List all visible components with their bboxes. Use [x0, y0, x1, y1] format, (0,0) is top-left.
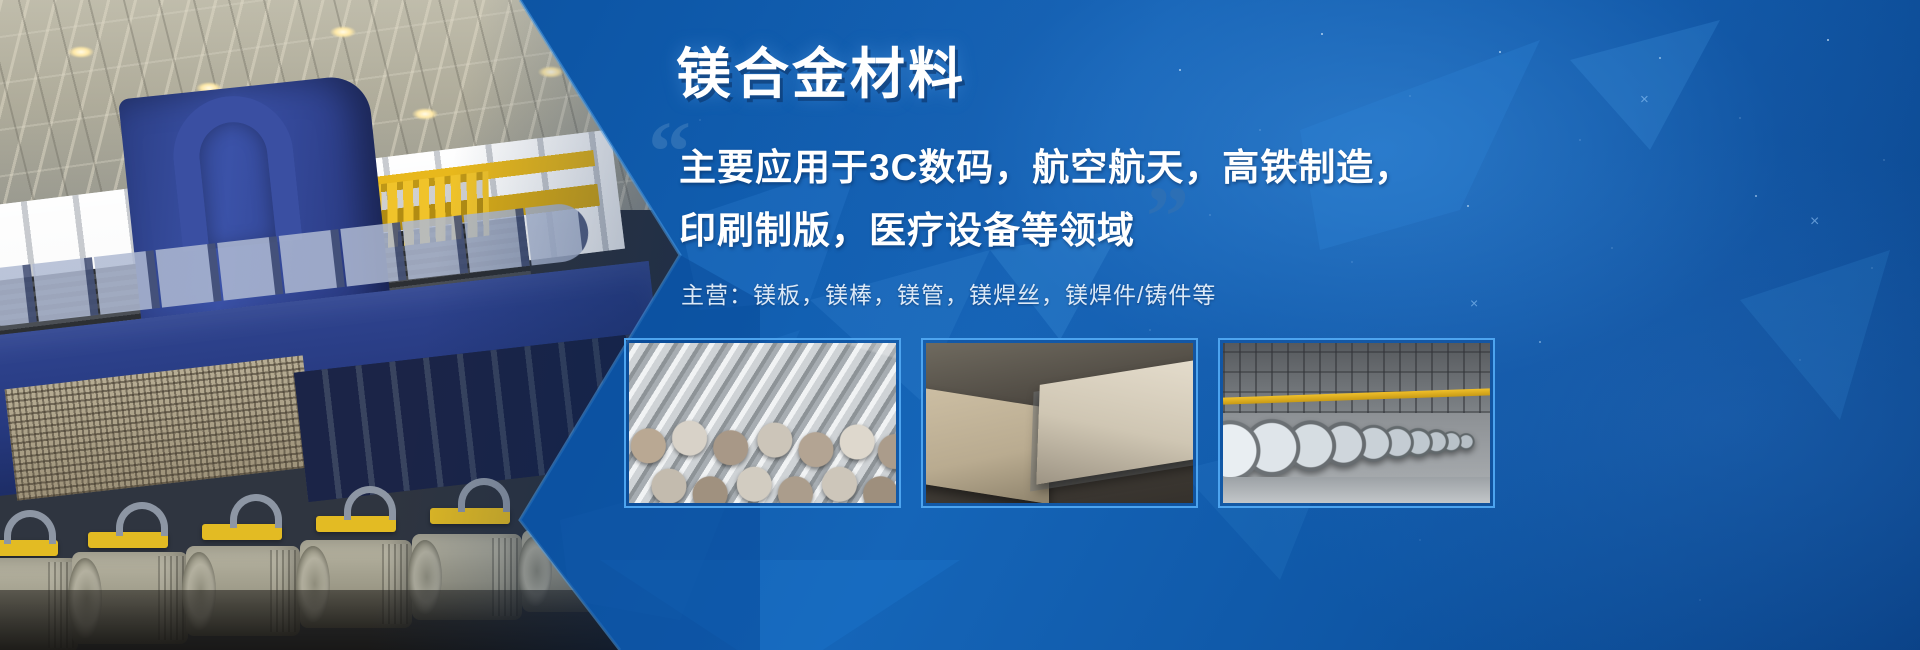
thumb-magnesium-plates-image — [926, 343, 1193, 503]
description-text: 主要应用于3C数码，航空航天，高铁制造， 印刷制版，医疗设备等领域 — [679, 136, 1439, 262]
thumb-magnesium-coils[interactable] — [1218, 338, 1495, 508]
thumb-magnesium-bars[interactable] — [624, 338, 901, 508]
coil-stack — [1223, 401, 1490, 484]
warehouse-floor — [1223, 477, 1490, 503]
product-banner: × × × × — [0, 0, 1920, 650]
description-line-1: 主要应用于3C数码，航空航天，高铁制造， — [679, 136, 1439, 199]
main-products-subtitle: 主营：镁板，镁棒，镁管，镁焊丝，镁焊件/铸件等 — [681, 276, 1216, 310]
thumb-magnesium-coils-image — [1223, 343, 1490, 503]
product-thumbnail-list — [624, 338, 1495, 508]
thumb-magnesium-bars-image — [629, 343, 896, 503]
page-title: 镁合金材料 — [676, 47, 966, 102]
description-line-2: 印刷制版，医疗设备等领域 — [679, 199, 1439, 262]
thumb-magnesium-plates[interactable] — [921, 338, 1198, 508]
